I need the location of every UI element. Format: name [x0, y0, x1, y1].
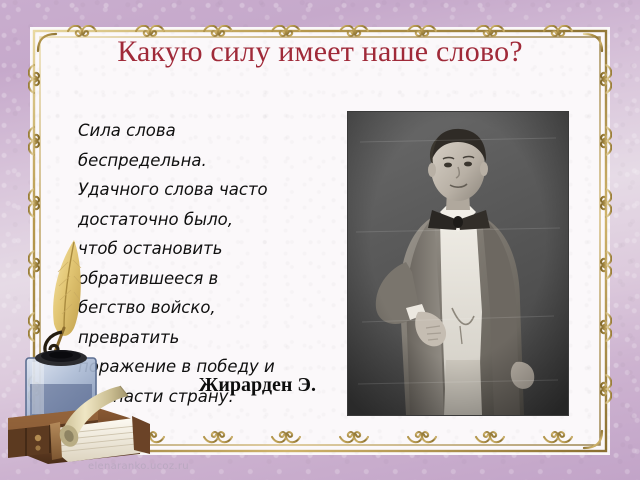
- quote-line: беспредельна.: [78, 146, 316, 176]
- presentation-slide: Какую силу имеет наше слово? Сила слова …: [0, 0, 640, 480]
- quill-inkwell-books-decoration: [2, 232, 150, 464]
- site-watermark: elenaranko.ucoz.ru: [88, 461, 189, 472]
- quote-line: достаточно было,: [78, 205, 316, 235]
- portrait-illustration: [348, 112, 568, 415]
- slide-title: Какую силу имеет наше слово?: [30, 33, 610, 71]
- portrait-photograph: [348, 112, 568, 415]
- quote-line: Удачного слова часто: [78, 175, 316, 205]
- quote-line: Сила слова: [78, 116, 316, 146]
